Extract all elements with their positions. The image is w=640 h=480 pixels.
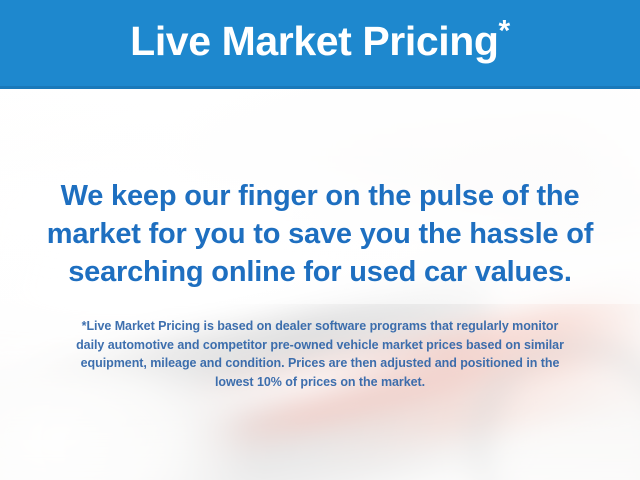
headline: We keep our finger on the pulse of the m… [0, 177, 640, 291]
disclaimer-line-2: daily automotive and competitor pre-owne… [20, 336, 620, 355]
page-title-text: Live Market Pricing [130, 18, 498, 64]
page-title: Live Market Pricing* [130, 21, 510, 65]
content-area: We keep our finger on the pulse of the m… [0, 89, 640, 480]
headline-line-2: market for you to save you the hassle of [22, 215, 618, 253]
disclaimer-text: *Live Market Pricing is based on dealer … [0, 317, 640, 391]
disclaimer-line-4: lowest 10% of prices on the market. [20, 373, 620, 392]
headline-line-3: searching online for used car values. [22, 253, 618, 291]
disclaimer-line-3: equipment, mileage and condition. Prices… [20, 354, 620, 373]
disclaimer-line-1: *Live Market Pricing is based on dealer … [20, 317, 620, 336]
live-market-pricing-promo: Live Market Pricing* We keep our finger … [0, 0, 640, 480]
page-title-asterisk: * [499, 14, 510, 47]
header-banner: Live Market Pricing* [0, 0, 640, 89]
headline-line-1: We keep our finger on the pulse of the [22, 177, 618, 215]
